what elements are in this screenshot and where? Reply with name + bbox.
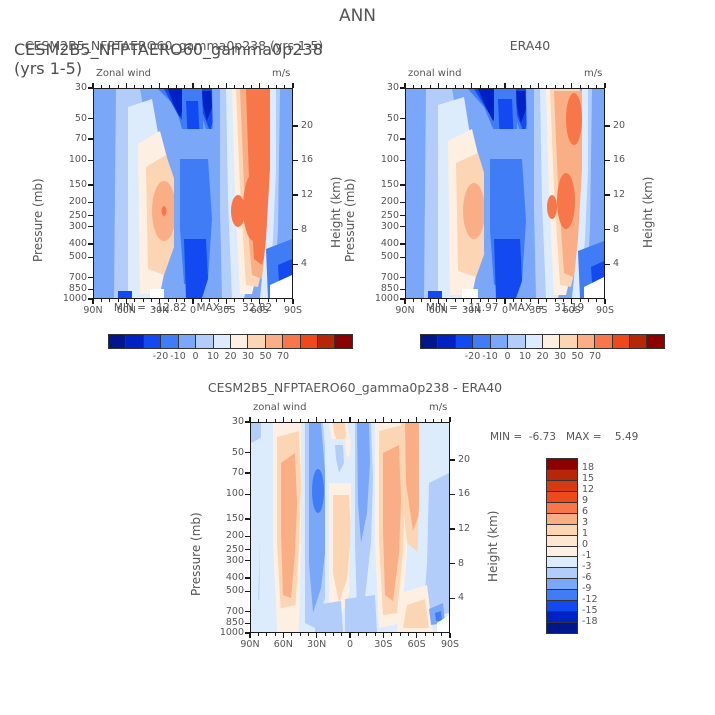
colorbar-segment[interactable] — [526, 335, 543, 348]
units-label-obs: m/s — [584, 69, 602, 79]
xtick-label: 60S — [397, 640, 437, 650]
ytick-label: 500 — [51, 252, 87, 262]
xtick-minor-bottom — [408, 633, 409, 636]
y2tick-label: 8 — [458, 559, 464, 569]
ytick-label: 30 — [51, 83, 87, 93]
y2tick-mark — [450, 459, 455, 460]
xtick-label: 60N — [263, 640, 303, 650]
y2tick-mark — [293, 125, 298, 126]
colorbar-tick-label: 18 — [582, 463, 594, 473]
xtick-minor-bottom — [433, 633, 434, 636]
y2tick-mark — [293, 160, 298, 161]
var-label-diff: zonal wind — [253, 403, 306, 413]
ytick-label: 300 — [51, 222, 87, 232]
ytick-label: 850 — [51, 284, 87, 294]
colorbar-segment[interactable] — [248, 335, 265, 348]
ylabel-diff: Pressure (mb) — [190, 512, 202, 596]
y2tick-label: 20 — [301, 121, 313, 131]
colorbar-tick-label: -9 — [582, 584, 591, 594]
colorbar-segment[interactable] — [231, 335, 248, 348]
y2tick-mark — [605, 125, 610, 126]
y2tick-label: 16 — [613, 155, 625, 165]
colorbar-segment[interactable] — [318, 335, 335, 348]
ytick-label: 700 — [208, 607, 244, 617]
xtick-minor-bottom — [375, 633, 376, 636]
ytick-label: 150 — [51, 180, 87, 190]
plot-area-model[interactable] — [93, 88, 293, 299]
contour-field-obs — [406, 89, 604, 298]
xtick-minor-bottom — [413, 299, 414, 302]
colorbar-tick-label: 15 — [582, 474, 594, 484]
units-label-diff: m/s — [429, 403, 447, 413]
ytick-label: 250 — [208, 545, 244, 555]
xtick-mark — [316, 633, 317, 638]
colorbar-segment[interactable] — [421, 335, 438, 348]
y2tick-mark — [605, 194, 610, 195]
colorbar-segment[interactable] — [647, 335, 663, 348]
y2tick-mark — [293, 264, 298, 265]
ytick-label: 500 — [363, 252, 399, 262]
y2tick-label: 4 — [613, 259, 619, 269]
ytick-label: 250 — [363, 211, 399, 221]
ytick-label: 50 — [208, 448, 244, 458]
ytick-label: 1000 — [51, 294, 87, 304]
colorbar-segment[interactable] — [144, 335, 161, 348]
colorbar-obs[interactable] — [420, 334, 665, 349]
minmax-obs: MIN = -11.97 MAX = 31.19 — [405, 303, 605, 314]
xtick-minor-bottom — [400, 633, 401, 636]
ytick-label: 150 — [208, 514, 244, 524]
y2tick-mark — [605, 264, 610, 265]
y2label-obs: Height (km) — [642, 177, 654, 248]
colorbar-segment[interactable] — [214, 335, 231, 348]
colorbar-segment[interactable] — [543, 335, 560, 348]
xtick-minor-bottom — [325, 633, 326, 636]
colorbar-segment[interactable] — [578, 335, 595, 348]
xtick-label: 30S — [363, 640, 403, 650]
colorbar-segment[interactable] — [547, 579, 577, 590]
y2tick-label: 20 — [458, 455, 470, 465]
colorbar-labels-obs: -20-1001020305070 — [420, 351, 665, 365]
colorbar-segment[interactable] — [456, 335, 473, 348]
ytick-label: 70 — [51, 134, 87, 144]
y2tick-label: 4 — [458, 593, 464, 603]
contour-field-diff — [251, 423, 449, 632]
xtick-mark — [449, 633, 450, 638]
xtick-mark — [383, 633, 384, 638]
ytick-label: 700 — [51, 273, 87, 283]
y2tick-mark — [450, 563, 455, 564]
colorbar-segment[interactable] — [547, 547, 577, 558]
y2tick-label: 12 — [613, 190, 625, 200]
colorbar-tick-label: 70 — [267, 352, 299, 362]
xtick-minor-bottom — [266, 633, 267, 636]
var-label-model: Zonal wind — [96, 69, 151, 79]
colorbar-segment[interactable] — [547, 481, 577, 492]
panel-title-diff: CESM2B5_NFPTAERO60_gamma0p238 - ERA40 — [190, 382, 520, 395]
xtick-label: 90S — [430, 640, 470, 650]
xtick-minor-bottom — [101, 299, 102, 302]
ytick-label: 1000 — [363, 294, 399, 304]
plot-area-obs[interactable] — [405, 88, 605, 299]
y2tick-mark — [605, 160, 610, 161]
y2tick-label: 20 — [613, 121, 625, 131]
colorbar-segment[interactable] — [547, 525, 577, 536]
colorbar-tick-label: 9 — [582, 496, 588, 506]
xtick-minor-bottom — [333, 633, 334, 636]
colorbar-tick-label: -15 — [582, 606, 598, 616]
minmax-diff: MIN = -6.73 MAX = 5.49 — [490, 432, 638, 443]
page-title: ANN — [0, 8, 715, 25]
y2tick-mark — [293, 194, 298, 195]
xtick-minor-bottom — [391, 633, 392, 636]
ytick-label: 1000 — [208, 628, 244, 638]
colorbar-segment[interactable] — [126, 335, 143, 348]
ytick-label: 300 — [363, 222, 399, 232]
colorbar-segment[interactable] — [109, 335, 126, 348]
colorbar-tick-label: 6 — [582, 507, 588, 517]
colorbar-segment[interactable] — [547, 623, 577, 633]
ytick-label: 30 — [208, 417, 244, 427]
xtick-minor-bottom — [275, 633, 276, 636]
y2tick-mark — [450, 528, 455, 529]
y2tick-label: 16 — [301, 155, 313, 165]
ytick-label: 50 — [363, 114, 399, 124]
ytick-label: 850 — [363, 284, 399, 294]
colorbar-tick-label: -18 — [582, 617, 598, 627]
xtick-label: 90N — [230, 640, 270, 650]
colorbar-segment[interactable] — [266, 335, 283, 348]
colorbar-tick-label: 3 — [582, 518, 588, 528]
colorbar-segment[interactable] — [438, 335, 455, 348]
ytick-label: 200 — [363, 197, 399, 207]
xtick-minor-bottom — [300, 633, 301, 636]
xtick-minor-bottom — [358, 633, 359, 636]
colorbar-segment[interactable] — [547, 601, 577, 612]
colorbar-segment[interactable] — [595, 335, 612, 348]
xtick-minor-bottom — [276, 299, 277, 302]
colorbar-segment[interactable] — [161, 335, 178, 348]
colorbar-segment[interactable] — [283, 335, 300, 348]
colorbar-segment[interactable] — [508, 335, 525, 348]
ytick-label: 30 — [363, 83, 399, 93]
ylabel-obs: Pressure (mb) — [344, 178, 356, 262]
ytick-label: 50 — [51, 114, 87, 124]
ytick-label: 500 — [208, 586, 244, 596]
colorbar-segment[interactable] — [547, 536, 577, 547]
panel-title-model-text: CESM2B5_NFPTAERO60_gamma0p238 (yrs 1-5) — [14, 40, 334, 53]
y2tick-label: 12 — [301, 190, 313, 200]
xtick-mark — [249, 633, 250, 638]
colorbar-tick-label: -1 — [582, 551, 591, 561]
colorbar-segment[interactable] — [473, 335, 490, 348]
xtick-label: 30N — [297, 640, 337, 650]
y2tick-mark — [450, 494, 455, 495]
colorbar-segment[interactable] — [547, 459, 577, 470]
colorbar-segment[interactable] — [613, 335, 630, 348]
xtick-minor-bottom — [588, 299, 589, 302]
y2label-model: Height (km) — [330, 177, 342, 248]
ytick-label: 200 — [51, 197, 87, 207]
colorbar-segment[interactable] — [547, 557, 577, 568]
var-label-obs: zonal wind — [408, 69, 461, 79]
contour-field-model — [94, 89, 292, 298]
colorbar-segment[interactable] — [547, 492, 577, 503]
xtick-minor-bottom — [421, 299, 422, 302]
ytick-label: 70 — [208, 468, 244, 478]
y2tick-label: 16 — [458, 489, 470, 499]
panel-title-obs: ERA40 — [385, 40, 675, 53]
ytick-label: 700 — [363, 273, 399, 283]
y2tick-mark — [450, 598, 455, 599]
xtick-minor-bottom — [258, 633, 259, 636]
xtick-minor-bottom — [441, 633, 442, 636]
colorbar-tick-label: 0 — [582, 540, 588, 550]
ytick-label: 70 — [363, 134, 399, 144]
plot-area-diff[interactable] — [250, 422, 450, 633]
colorbar-segment[interactable] — [179, 335, 196, 348]
colorbar-labels-diff: 18151296310-1-3-6-9-12-15-18 — [580, 458, 614, 634]
xtick-minor-bottom — [109, 299, 110, 302]
xtick-minor-bottom — [425, 633, 426, 636]
colorbar-segment[interactable] — [301, 335, 318, 348]
ytick-label: 100 — [363, 155, 399, 165]
colorbar-segment[interactable] — [547, 590, 577, 601]
colorbar-tick-label: -12 — [582, 595, 598, 605]
colorbar-segment[interactable] — [491, 335, 508, 348]
ytick-label: 100 — [208, 489, 244, 499]
colorbar-labels-model: -20-1001020305070 — [108, 351, 353, 365]
ytick-label: 400 — [363, 239, 399, 249]
xtick-minor-bottom — [308, 633, 309, 636]
colorbar-segment[interactable] — [547, 470, 577, 481]
xtick-minor-bottom — [596, 299, 597, 302]
y2tick-mark — [605, 229, 610, 230]
colorbar-tick-label: -3 — [582, 562, 591, 572]
colorbar-model[interactable] — [108, 334, 353, 349]
colorbar-segment[interactable] — [560, 335, 577, 348]
xtick-minor-bottom — [366, 633, 367, 636]
y2tick-label: 8 — [613, 225, 619, 235]
colorbar-diff[interactable] — [546, 458, 578, 634]
ytick-label: 400 — [208, 573, 244, 583]
y2label-diff: Height (km) — [487, 511, 499, 582]
minmax-model: MIN = -12.82 MAX = 32.82 — [93, 303, 293, 314]
xtick-mark — [416, 633, 417, 638]
ytick-label: 250 — [51, 211, 87, 221]
colorbar-tick-label: 1 — [582, 529, 588, 539]
colorbar-segment[interactable] — [630, 335, 647, 348]
ytick-label: 850 — [208, 618, 244, 628]
xtick-label: 0 — [330, 640, 370, 650]
xtick-mark — [283, 633, 284, 638]
y2tick-label: 8 — [301, 225, 307, 235]
y2tick-mark — [293, 229, 298, 230]
colorbar-tick-label: 12 — [582, 485, 594, 495]
ytick-label: 300 — [208, 556, 244, 566]
colorbar-segment[interactable] — [335, 335, 351, 348]
y2tick-label: 4 — [301, 259, 307, 269]
colorbar-segment[interactable] — [196, 335, 213, 348]
xtick-minor-bottom — [284, 299, 285, 302]
xtick-minor-bottom — [291, 633, 292, 636]
ytick-label: 150 — [363, 180, 399, 190]
colorbar-segment[interactable] — [547, 612, 577, 623]
ytick-label: 100 — [51, 155, 87, 165]
colorbar-tick-label: 70 — [579, 352, 611, 362]
colorbar-tick-label: -6 — [582, 573, 591, 583]
y2tick-label: 12 — [458, 524, 470, 534]
xtick-mark — [349, 633, 350, 638]
ylabel-model: Pressure (mb) — [32, 178, 44, 262]
units-label-model: m/s — [272, 69, 290, 79]
xtick-minor-bottom — [341, 633, 342, 636]
colorbar-segment[interactable] — [547, 503, 577, 514]
colorbar-segment[interactable] — [547, 568, 577, 579]
ytick-label: 400 — [51, 239, 87, 249]
colorbar-segment[interactable] — [547, 514, 577, 525]
ytick-label: 200 — [208, 531, 244, 541]
